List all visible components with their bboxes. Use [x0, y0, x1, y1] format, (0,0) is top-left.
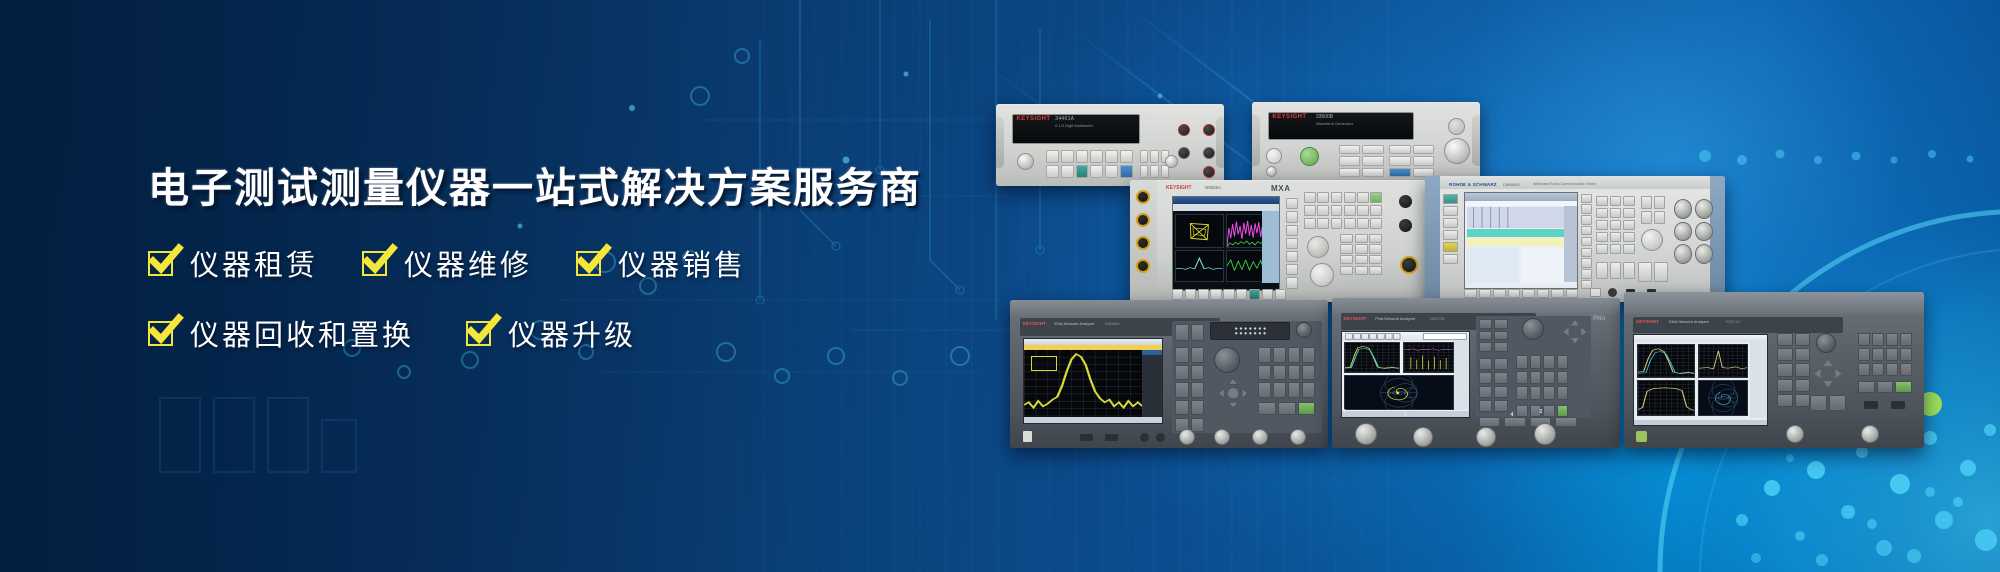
test-port-1[interactable] [1786, 425, 1804, 443]
instrument-mxa-signal-analyzer: KEYSIGHT N9020A MXA [1130, 180, 1430, 302]
instrument-cluster: KEYSIGHT 34461A 6 1/2 Digit Multimeter C… [1020, 100, 1960, 520]
checkbox-checked-icon [148, 319, 176, 347]
rf-input-port[interactable] [1399, 195, 1412, 208]
analyzer-display [1172, 196, 1280, 291]
page-title: 电子测试测量仪器一站式解决方案服务商 [148, 166, 968, 212]
instrument-subtitle: ENA Network Analyzer [1669, 319, 1709, 324]
probe-power-port [1156, 433, 1165, 442]
instrument-subtitle: ENA Network Analyzer [1055, 321, 1095, 326]
instrument-pna-network-analyzer: KEYSIGHT PNA Network Analyzer N5227B PNA [1332, 298, 1620, 448]
feature-instrument-recycle-exchange[interactable]: 仪器回收和置换 [148, 312, 414, 354]
instrument-brand: KEYSIGHT [1023, 321, 1046, 326]
instrument-brand: KEYSIGHT [1344, 316, 1367, 321]
power-button[interactable] [1266, 148, 1282, 164]
test-port-2[interactable] [1534, 423, 1556, 445]
feature-instrument-sales[interactable]: 仪器销售 [576, 242, 746, 284]
instrument-brand: KEYSIGHT [1017, 116, 1051, 122]
feature-label: 仪器租赁 [190, 242, 318, 284]
usb-port [1080, 434, 1093, 441]
navigation-knob[interactable] [1214, 347, 1240, 373]
test-port-4[interactable] [1290, 429, 1306, 445]
instrument-model: N5227B [1430, 316, 1444, 321]
feature-label: 仪器回收和置换 [190, 312, 414, 354]
rotary-knob[interactable] [1816, 333, 1836, 353]
instrument-model: N9020A [1205, 185, 1221, 190]
test-port-3[interactable] [1413, 427, 1433, 447]
instrument-subtitle: Waveform Generator [1316, 121, 1353, 126]
feature-instrument-rental[interactable]: 仪器租赁 [148, 242, 318, 284]
vna-display-2 [1633, 334, 1768, 426]
feature-label: 仪器销售 [618, 242, 746, 284]
test-port-4[interactable] [1476, 427, 1496, 447]
instrument-model: CMW500 [1503, 182, 1520, 187]
aux-button[interactable] [1266, 166, 1277, 177]
hero-banner: 电子测试测量仪器一站式解决方案服务商 仪器租赁 仪器维修 [0, 0, 2000, 572]
probe-power-port [1140, 433, 1149, 442]
test-port-2[interactable] [1861, 425, 1879, 443]
terminal-switch[interactable] [1165, 155, 1178, 168]
rotary-knob[interactable] [1641, 229, 1663, 251]
output-button[interactable] [1300, 147, 1319, 166]
test-port-1[interactable] [1179, 429, 1195, 445]
instrument-model: E5080A [1105, 321, 1119, 326]
instrument-brand: KEYSIGHT [1636, 319, 1659, 324]
secondary-knob[interactable] [1448, 118, 1465, 135]
vna-display [1023, 338, 1163, 424]
rotary-knob[interactable] [1522, 318, 1544, 340]
checkbox-checked-icon [148, 249, 176, 277]
instrument-subtitle: Wideband Radio Communication Tester [1533, 182, 1596, 186]
banner-copy: 电子测试测量仪器一站式解决方案服务商 仪器租赁 仪器维修 [148, 166, 968, 354]
test-port-3[interactable] [1252, 429, 1268, 445]
navigation-pad[interactable] [1307, 236, 1329, 258]
rf-output-port[interactable] [1399, 219, 1412, 232]
test-port-2[interactable] [1214, 429, 1230, 445]
rotary-encoder[interactable] [1444, 138, 1470, 164]
instrument-digital-multimeter: KEYSIGHT 34461A 6 1/2 Digit Multimeter C… [996, 104, 1224, 186]
instrument-radio-comm-tester: ROHDE & SCHWARZ CMW500 Wideband Radio Co… [1425, 176, 1725, 302]
power-led [1636, 431, 1647, 442]
usb-port [1864, 401, 1878, 409]
instrument-model: 34461A [1055, 116, 1074, 122]
left-faint-shapes [160, 398, 356, 472]
power-switch[interactable] [1023, 431, 1032, 442]
feature-instrument-upgrade[interactable]: 仪器升级 [466, 312, 636, 354]
instrument-brand: ROHDE & SCHWARZ [1449, 182, 1497, 187]
instrument-ena-network-analyzer: KEYSIGHT ENA Network Analyzer E5080A [1010, 300, 1328, 448]
tester-display [1464, 192, 1578, 289]
feature-row-1: 仪器租赁 仪器维修 仪器销售 [148, 242, 968, 284]
feature-instrument-repair[interactable]: 仪器维修 [362, 242, 532, 284]
power-knob[interactable] [1017, 153, 1034, 170]
instrument-subtitle: 6 1/2 Digit Multimeter [1055, 123, 1093, 128]
rotary-knob[interactable] [1310, 263, 1334, 287]
checkbox-checked-icon [466, 319, 494, 347]
rf-connector-block [1674, 199, 1713, 265]
instrument-ena-network-analyzer-2: KEYSIGHT ENA Network Analyzer E5071C [1624, 292, 1924, 448]
test-port-1[interactable] [1355, 423, 1377, 445]
instrument-brand: KEYSIGHT [1273, 114, 1307, 120]
instrument-brand: KEYSIGHT [1166, 185, 1192, 191]
pna-display [1341, 331, 1471, 418]
feature-label: 仪器升级 [508, 312, 636, 354]
checkbox-checked-icon [576, 249, 604, 277]
lan-port [1590, 288, 1601, 297]
instrument-subtitle: PNA Network Analyzer [1375, 316, 1415, 321]
usb-port [1105, 434, 1118, 441]
instrument-model: 33500B [1316, 114, 1333, 120]
rf-main-port[interactable] [1400, 256, 1418, 274]
feature-row-2: 仪器回收和置换 仪器升级 [148, 312, 968, 354]
feature-label: 仪器维修 [404, 242, 532, 284]
audio-port [1608, 288, 1617, 297]
usb-port [1891, 401, 1905, 409]
instrument-model: E5071C [1726, 319, 1740, 324]
instrument-waveform-generator: KEYSIGHT 33500B Waveform Generator [1252, 102, 1480, 184]
checkbox-checked-icon [362, 249, 390, 277]
